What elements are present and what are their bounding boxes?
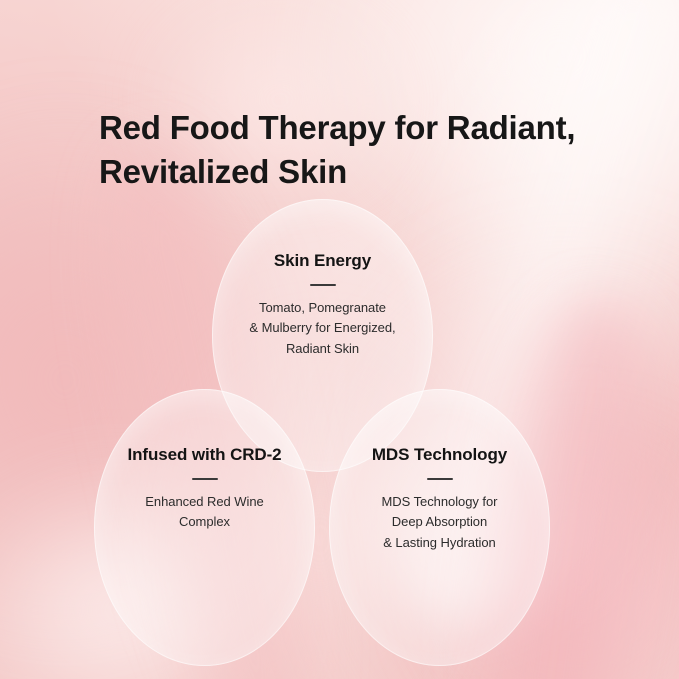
feature-body-skin-energy: Tomato, Pomegranate & Mulberry for Energ…	[249, 298, 395, 360]
page-title: Red Food Therapy for Radiant, Revitalize…	[99, 106, 619, 193]
feature-heading-mds-technology: MDS Technology	[372, 445, 507, 465]
divider-icon-mds-technology	[427, 478, 453, 480]
feature-body-crd-2: Enhanced Red Wine Complex	[145, 492, 263, 533]
feature-circle-crd-2: Infused with CRD-2 Enhanced Red Wine Com…	[94, 389, 315, 666]
feature-heading-skin-energy: Skin Energy	[274, 251, 371, 271]
feature-heading-crd-2: Infused with CRD-2	[127, 445, 281, 465]
feature-body-mds-technology: MDS Technology for Deep Absorption & Las…	[382, 492, 498, 554]
feature-circle-mds-technology: MDS Technology MDS Technology for Deep A…	[329, 389, 550, 666]
divider-icon-crd-2	[192, 478, 218, 480]
promo-banner: Red Food Therapy for Radiant, Revitalize…	[0, 0, 679, 679]
divider-icon-skin-energy	[310, 284, 336, 286]
